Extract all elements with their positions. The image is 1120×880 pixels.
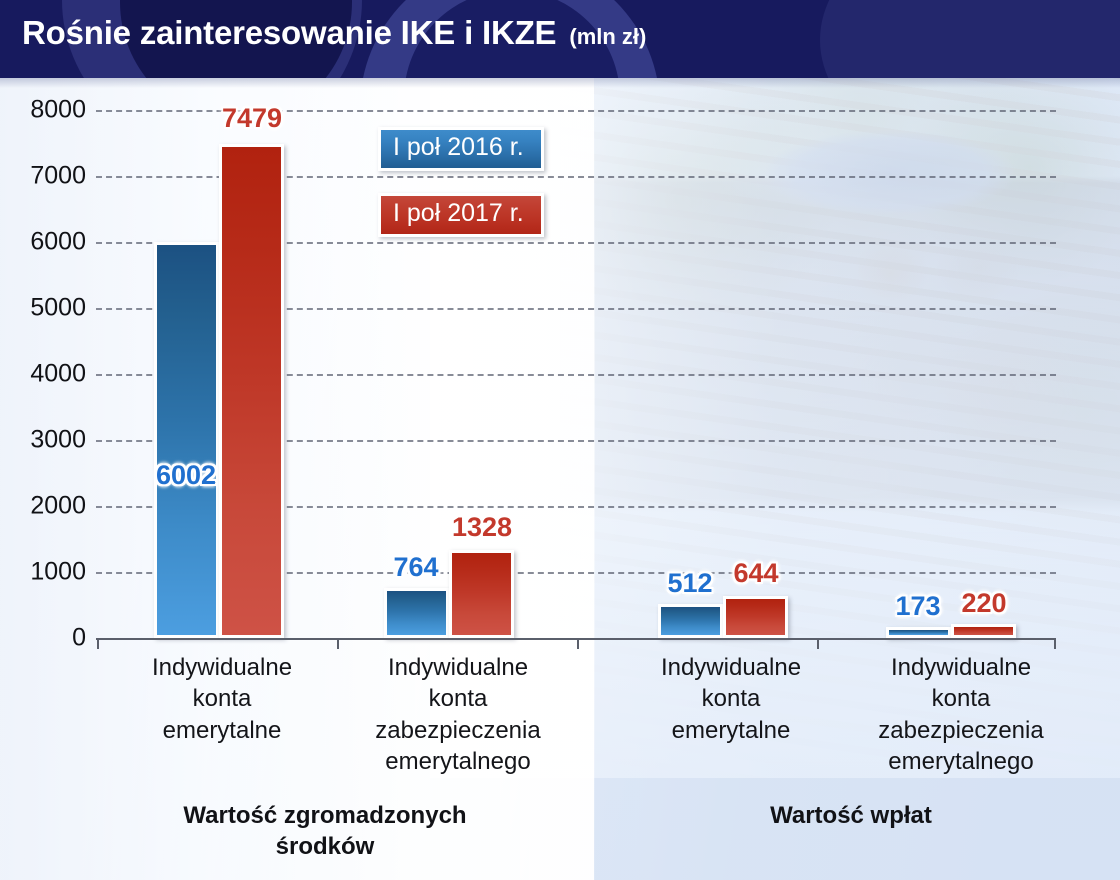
bar-2017-ike-zgromadzone: [219, 144, 284, 638]
y-tick-label: 3000: [6, 428, 86, 453]
x-axis-tick: [577, 640, 579, 649]
section-label-zgromadzone: Wartość zgromadzonychśrodków: [90, 800, 560, 862]
bar-2016-ike-zgromadzone: [154, 242, 219, 638]
bar-value-label: 220: [961, 590, 1006, 617]
legend: I poł 2016 r. I poł 2017 r.: [378, 127, 544, 237]
bar-2017-ike-wplaty: [723, 596, 788, 639]
y-tick-label: 5000: [6, 296, 86, 321]
plot-area: 6002 7479 764 1328 512 644 173 220: [96, 110, 1056, 638]
x-axis-tick: [817, 640, 819, 649]
category-label-4: Indywidualnekontazabezpieczeniaemerytaln…: [836, 652, 1086, 778]
bar-value-label: 173: [895, 593, 940, 620]
x-axis-line: [96, 638, 1056, 640]
legend-item-2017[interactable]: I poł 2017 r.: [378, 193, 544, 237]
y-tick-label: 0: [6, 626, 86, 651]
category-label-2: Indywidualnekontazabezpieczeniaemerytaln…: [333, 652, 583, 778]
y-tick-label: 7000: [6, 164, 86, 189]
category-label-3: Indywidualnekontaemerytalne: [606, 652, 856, 746]
y-tick-label: 1000: [6, 560, 86, 585]
header-sheen: [0, 78, 1120, 88]
x-axis-tick: [1054, 640, 1056, 649]
bar-value-label: 512: [667, 570, 712, 597]
y-tick-label: 4000: [6, 362, 86, 387]
category-label-1: Indywidualnekontaemerytalne: [97, 652, 347, 746]
bar-2016-ikze-zgromadzone: [384, 588, 449, 638]
y-tick-label: 6000: [6, 230, 86, 255]
bar-value-label: 6002: [156, 462, 216, 489]
y-axis-labels: 8000 7000 6000 5000 4000 3000 2000 1000 …: [0, 0, 86, 760]
bar-2017-ikze-zgromadzone: [449, 550, 514, 638]
title-unit: (mln zł): [569, 24, 646, 50]
title-text: Rośnie zainteresowanie IKE i IKZE: [22, 14, 556, 52]
bar-value-label: 7479: [222, 105, 282, 132]
header-banner: Rośnie zainteresowanie IKE i IKZE (mln z…: [0, 0, 1120, 78]
legend-item-2016[interactable]: I poł 2016 r.: [378, 127, 544, 171]
header-decor-arc-5: [820, 0, 1120, 78]
y-tick-label: 8000: [6, 98, 86, 123]
x-axis-tick: [97, 640, 99, 649]
bar-value-label: 1328: [452, 514, 512, 541]
bar-value-label: 644: [733, 560, 778, 587]
bar-2016-ikze-wplaty: [886, 627, 951, 638]
page-title: Rośnie zainteresowanie IKE i IKZE (mln z…: [22, 14, 646, 52]
x-axis-tick: [337, 640, 339, 649]
y-tick-label: 2000: [6, 494, 86, 519]
bar-2016-ike-wplaty: [658, 604, 723, 638]
infographic-root: Rośnie zainteresowanie IKE i IKZE (mln z…: [0, 0, 1120, 880]
legend-label: I poł 2016 r.: [393, 133, 524, 161]
legend-label: I poł 2017 r.: [393, 199, 524, 227]
section-label-wplaty: Wartość wpłat: [616, 800, 1086, 831]
bar-value-label: 764: [393, 554, 438, 581]
bar-2017-ikze-wplaty: [951, 624, 1016, 639]
